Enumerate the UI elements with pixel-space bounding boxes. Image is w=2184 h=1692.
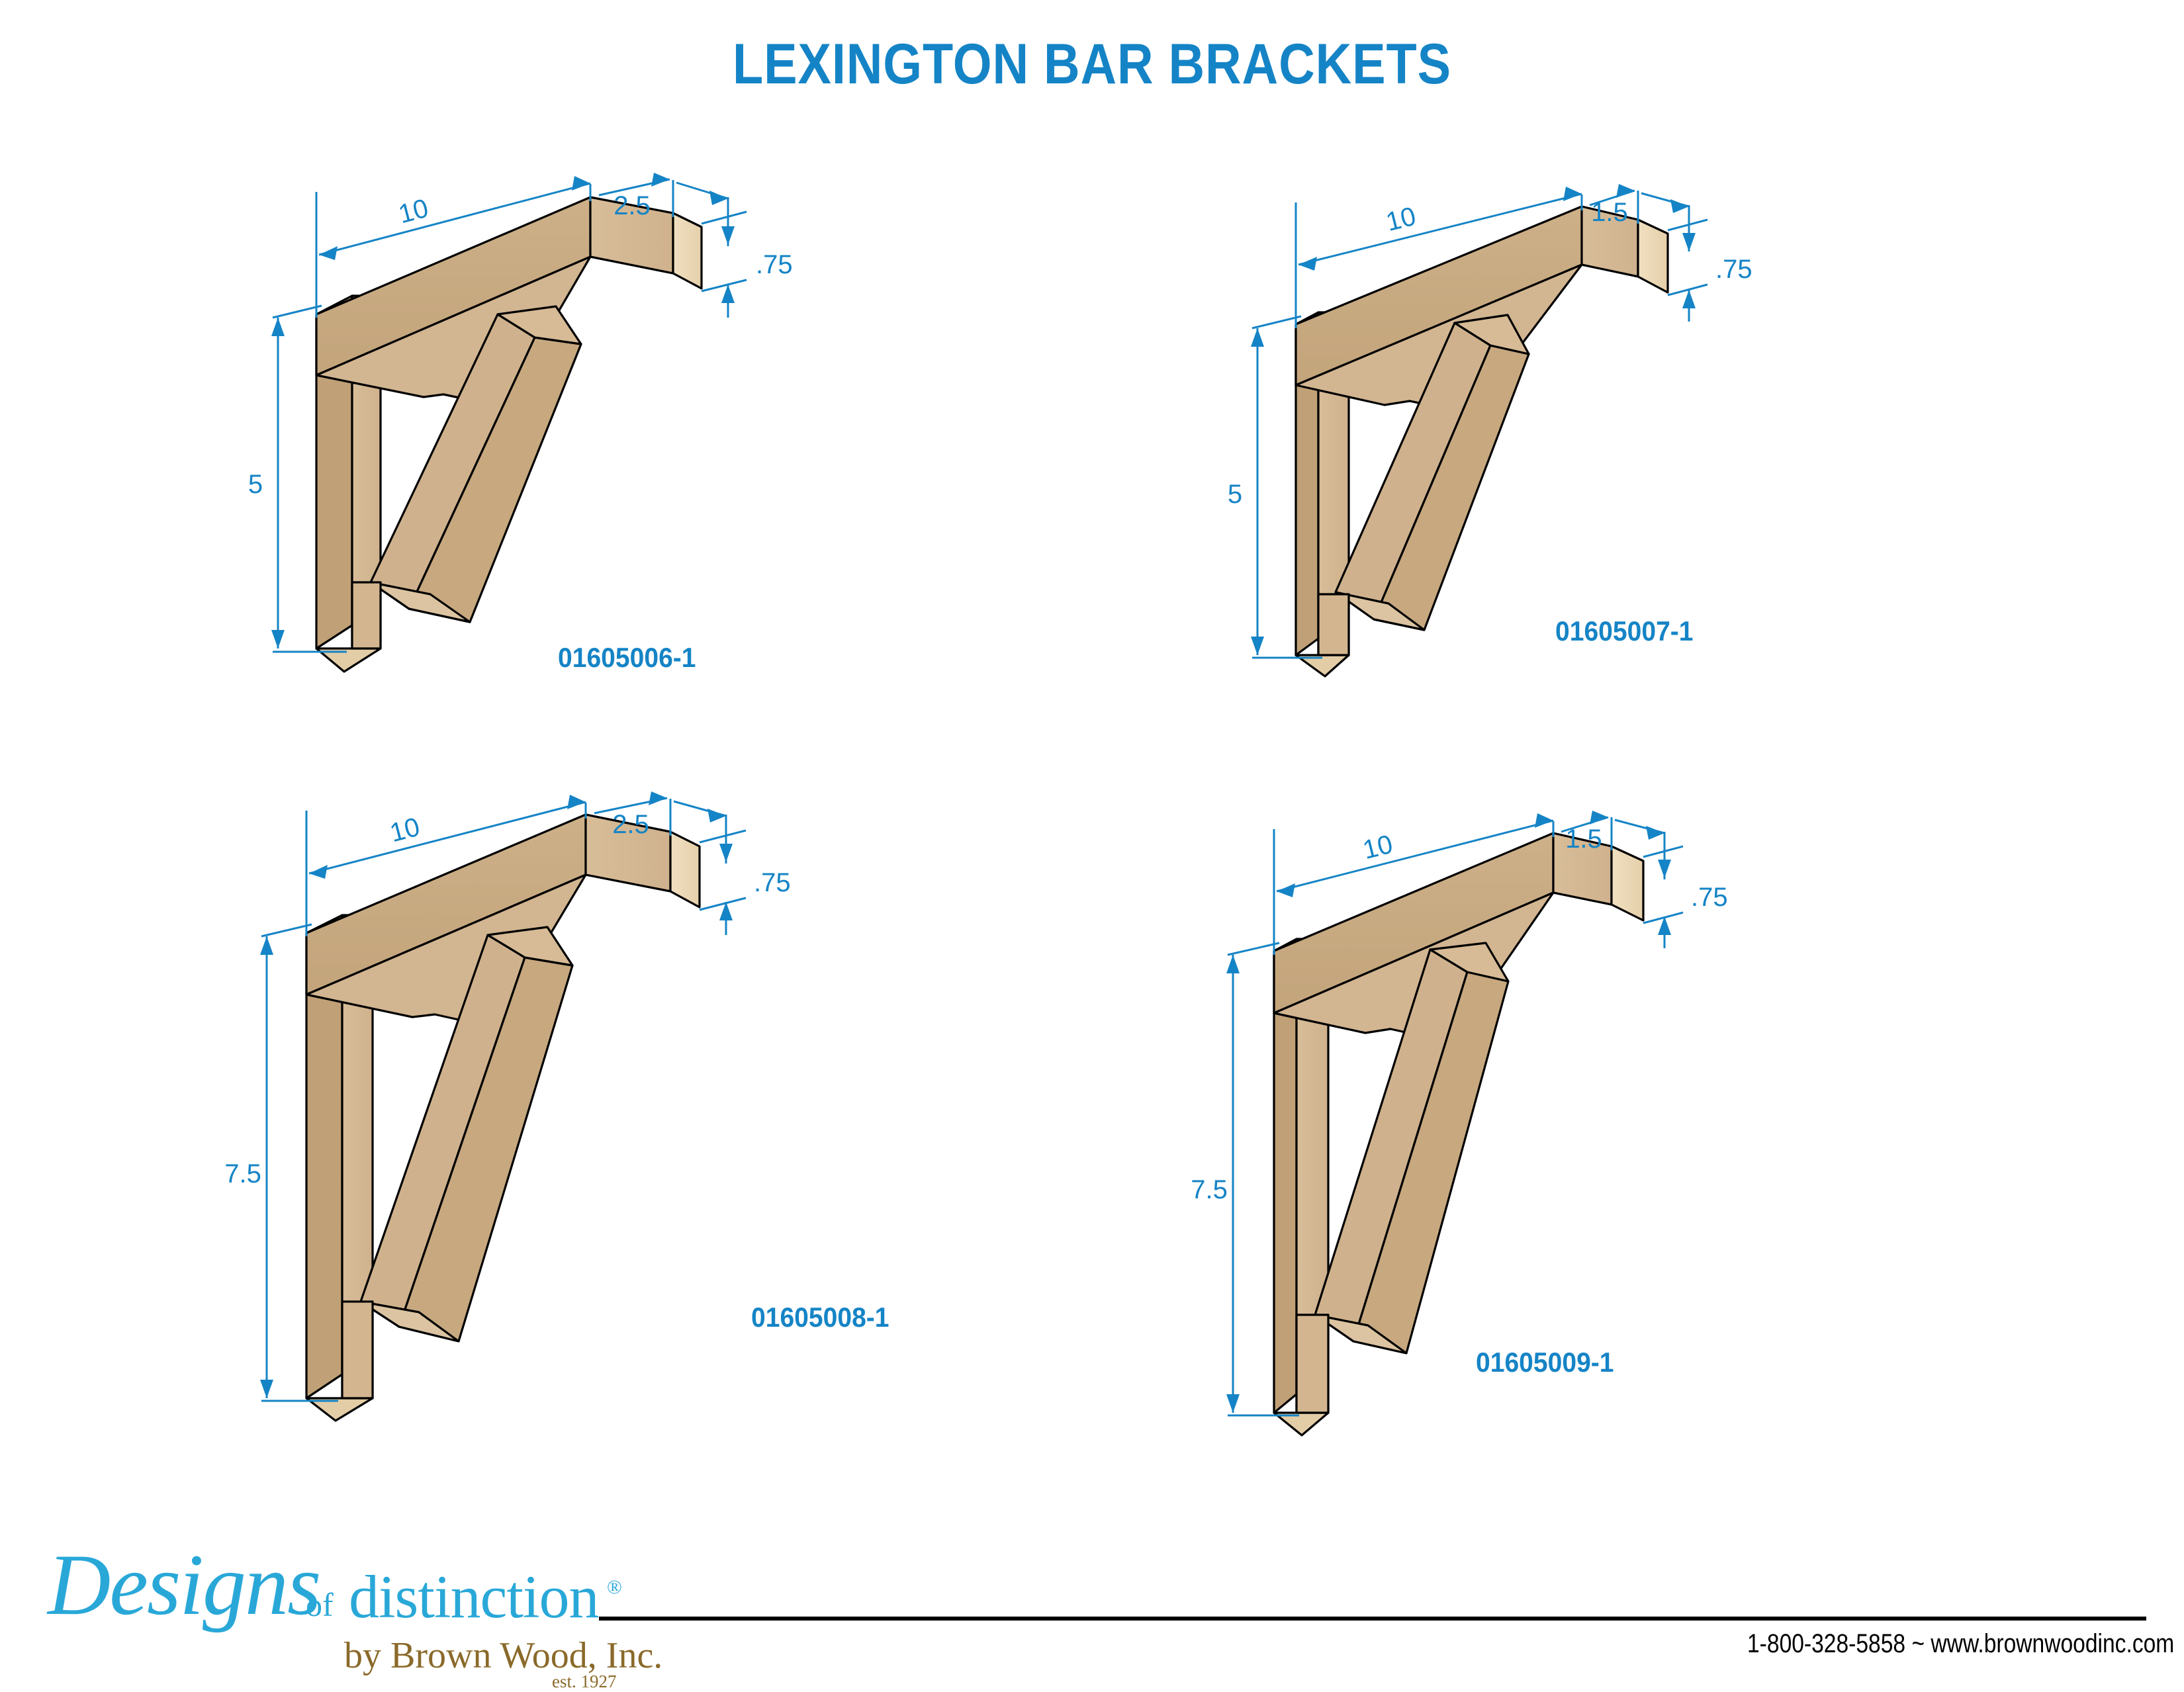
arrow-thk-bot xyxy=(721,285,735,303)
bracket-figure-01605007-1: 10 1.5 .75 5 01605007-1 xyxy=(1244,199,2071,688)
bracket-body xyxy=(1296,206,1668,676)
dim-label-thickness: .75 xyxy=(756,250,793,279)
dim-label-depth: 2.5 xyxy=(614,191,651,220)
leg-lower-strip xyxy=(1318,594,1349,655)
arm-end-face xyxy=(1612,846,1643,920)
dim-label-depth: 2.5 xyxy=(612,810,649,839)
bracket-figure-01605008-1: 10 2.5 .75 7.5 01605008-1 xyxy=(248,804,1075,1433)
arrow-height-bot xyxy=(260,1380,273,1398)
ext-height-top xyxy=(261,924,312,936)
logo-byline-text: by Brown Wood, Inc. xyxy=(344,1634,662,1677)
dim-label-length: 10 xyxy=(387,813,423,848)
logo-distinction-text: distinction xyxy=(349,1562,598,1632)
footer-contact-info: 1-800-328-5858 ~ www.brownwoodinc.com xyxy=(1747,1629,2174,1659)
arrow-length-right xyxy=(572,176,590,191)
dim-label-thickness: .75 xyxy=(754,868,791,897)
leg-lower-strip xyxy=(1297,1315,1328,1413)
arrow-height-top xyxy=(271,318,285,336)
arrow-thk-top xyxy=(719,844,733,862)
arrow-thk-bot xyxy=(1682,290,1696,308)
arrow-thk-top xyxy=(1658,860,1671,878)
ext-thk-bot xyxy=(702,280,747,291)
leg-lower-strip xyxy=(342,1302,373,1398)
ext-thk-top xyxy=(1668,220,1707,230)
arrow-length-right xyxy=(1563,187,1582,201)
part-number-label: 01605006-1 xyxy=(558,642,696,674)
arm-end-face xyxy=(1638,220,1668,292)
ext-thk-top xyxy=(1643,846,1683,857)
arrow-thk-top xyxy=(1682,233,1696,251)
dim-label-height: 5 xyxy=(248,470,263,499)
dim-label-height: 7.5 xyxy=(1191,1175,1228,1204)
arrow-depth-right xyxy=(707,809,726,823)
logo-established-text: est. 1927 xyxy=(552,1671,617,1692)
registered-trademark-icon: ® xyxy=(607,1576,622,1599)
arm-end-face xyxy=(673,213,702,289)
arrow-depth-right xyxy=(709,191,728,205)
bracket-body xyxy=(1274,833,1643,1435)
dim-label-height: 5 xyxy=(1228,480,1242,509)
dim-label-length: 10 xyxy=(1383,202,1419,237)
dim-label-thickness: .75 xyxy=(1691,883,1728,912)
ext-height-top xyxy=(1252,316,1301,328)
bracket-drawing-01605007-1: 10 1.5 .75 5 xyxy=(1244,199,2071,688)
drawing-sheet: LEXINGTON BAR BRACKETS xyxy=(0,0,2184,1687)
bracket-drawing-01605009-1: 10 1.5 .75 7.5 xyxy=(1214,824,2042,1452)
arrow-length-left xyxy=(1298,257,1317,271)
bracket-figure-01605006-1: 10 2.5 .75 5 01605006-1 xyxy=(265,185,1092,675)
arrow-depth-left xyxy=(1590,811,1608,824)
dim-label-length: 10 xyxy=(396,194,432,230)
part-number-label: 01605007-1 xyxy=(1555,615,1694,647)
dim-label-depth: 1.5 xyxy=(1591,198,1628,227)
arrow-height-bot xyxy=(1226,1394,1240,1413)
part-number-label: 01605009-1 xyxy=(1476,1347,1614,1378)
arm-end-face xyxy=(670,832,700,907)
arrow-depth-right xyxy=(1646,826,1664,840)
footer-divider xyxy=(599,1617,2146,1621)
arrow-height-bot xyxy=(271,630,285,648)
dim-label-length: 10 xyxy=(1360,830,1396,865)
dim-label-depth: 1.5 xyxy=(1565,824,1602,854)
arrow-depth-left xyxy=(651,173,670,187)
ext-thk-bot xyxy=(700,898,746,910)
ext-height-top xyxy=(1228,943,1279,955)
dim-label-thickness: .75 xyxy=(1715,255,1752,284)
arrow-height-top xyxy=(260,936,273,955)
arrow-depth-left xyxy=(649,791,667,805)
arrow-thk-top xyxy=(721,226,735,245)
company-logo: Designs of distinction ® by Brown Wood, … xyxy=(48,1542,630,1674)
part-number-label: 01605008-1 xyxy=(751,1302,889,1333)
logo-designs-text: Designs xyxy=(48,1534,320,1635)
dim-label-height: 7.5 xyxy=(224,1159,261,1188)
page-title: LEXINGTON BAR BRACKETS xyxy=(131,32,2053,97)
arrow-length-left xyxy=(1277,883,1295,897)
arrow-depth-right xyxy=(1670,199,1689,213)
ext-thk-top xyxy=(702,212,747,224)
leg-lower-strip xyxy=(352,582,381,648)
ext-thk-top xyxy=(700,830,746,842)
arrow-height-top xyxy=(1251,328,1264,347)
arrow-height-bot xyxy=(1251,637,1264,655)
bracket-drawing-01605008-1: 10 2.5 .75 7.5 xyxy=(248,804,1075,1433)
bracket-body xyxy=(306,815,700,1421)
arrow-length-right xyxy=(1535,813,1553,828)
logo-of-text: of xyxy=(306,1585,334,1624)
arrow-height-top xyxy=(1226,955,1240,973)
arrow-length-right xyxy=(567,795,586,809)
bracket-figure-01605009-1: 10 1.5 .75 7.5 01605009-1 xyxy=(1214,824,2042,1452)
arrow-depth-left xyxy=(1616,184,1635,198)
bracket-body xyxy=(316,197,702,672)
ext-height-top xyxy=(273,306,322,318)
bracket-drawing-01605006-1: 10 2.5 .75 5 xyxy=(265,185,1092,675)
